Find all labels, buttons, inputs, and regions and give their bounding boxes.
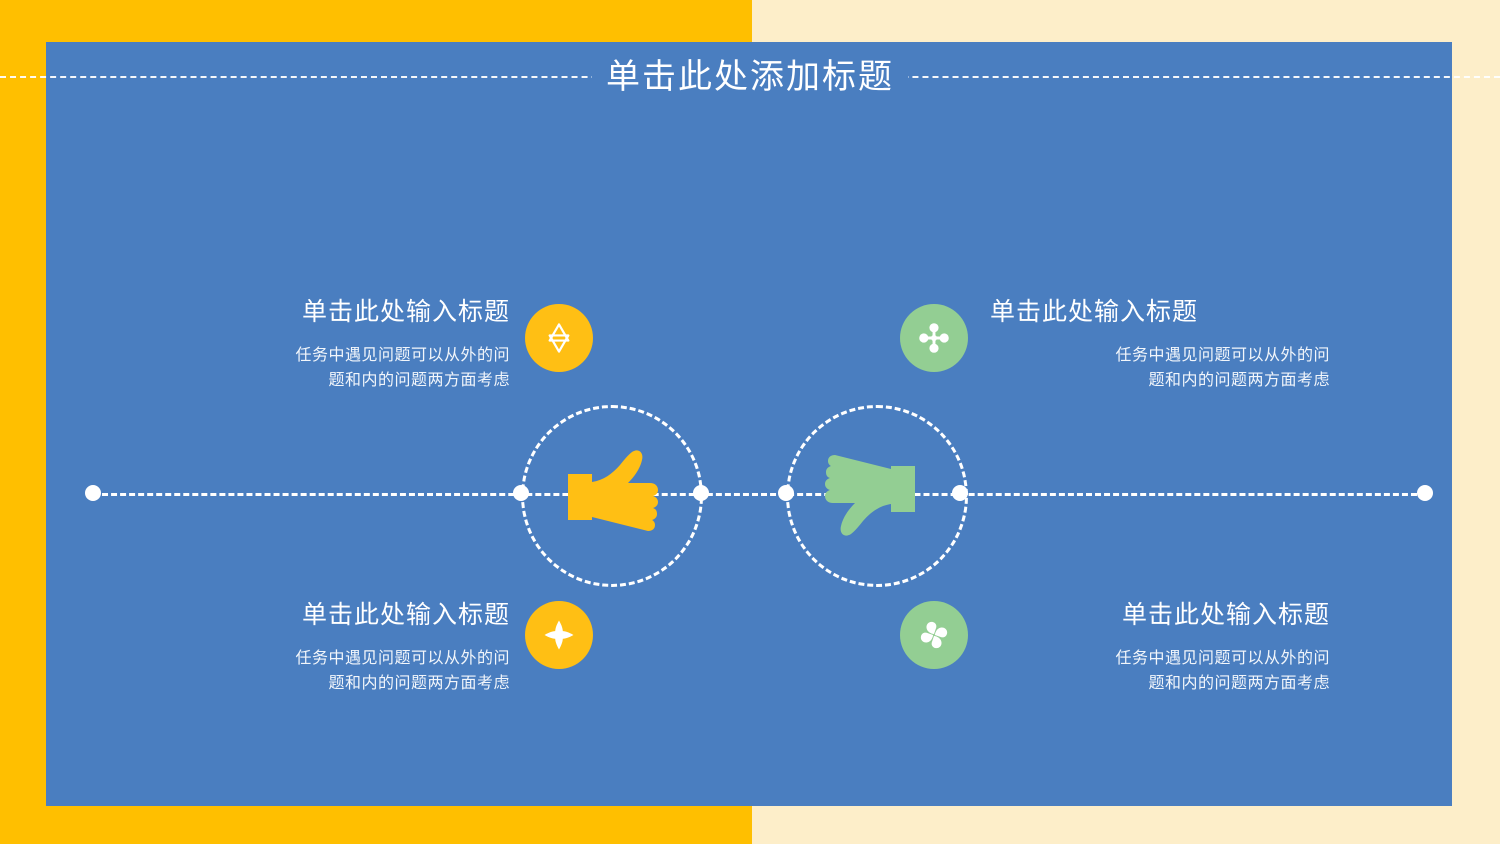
badge-top-left[interactable] <box>525 304 593 372</box>
badge-bottom-left[interactable] <box>525 601 593 669</box>
item-top-left-body-line1: 任务中遇见问题可以从外的问 <box>170 343 510 368</box>
item-bottom-left-body-line1: 任务中遇见问题可以从外的问 <box>170 646 510 671</box>
item-top-right-body: 任务中遇见问题可以从外的问 题和内的问题两方面考虑 <box>990 343 1330 393</box>
item-top-right-body-line1: 任务中遇见问题可以从外的问 <box>990 343 1330 368</box>
page-title-text: 单击此处添加标题 <box>592 55 908 99</box>
four-leaf-clover-icon <box>917 618 951 652</box>
item-top-right-body-line2: 题和内的问题两方面考虑 <box>990 368 1330 393</box>
item-bottom-left-body-line2: 题和内的问题两方面考虑 <box>170 671 510 696</box>
slide-canvas: 单击此处添加标题 <box>0 0 1500 844</box>
star-of-david-icon <box>542 321 576 355</box>
axis-node-far-right <box>1417 485 1433 501</box>
item-bottom-left: 单击此处输入标题 任务中遇见问题可以从外的问 题和内的问题两方面考虑 <box>170 598 510 696</box>
item-top-left-heading: 单击此处输入标题 <box>170 295 510 329</box>
item-bottom-right-body-line1: 任务中遇见问题可以从外的问 <box>990 646 1330 671</box>
item-bottom-right: 单击此处输入标题 任务中遇见问题可以从外的问 题和内的问题两方面考虑 <box>990 598 1330 696</box>
item-bottom-right-heading: 单击此处输入标题 <box>990 598 1330 632</box>
item-bottom-left-heading: 单击此处输入标题 <box>170 598 510 632</box>
axis-node-far-left <box>85 485 101 501</box>
molecule-node-icon <box>917 321 951 355</box>
thumbs-up-icon[interactable] <box>521 405 697 581</box>
item-bottom-left-body: 任务中遇见问题可以从外的问 题和内的问题两方面考虑 <box>170 646 510 696</box>
item-bottom-right-body: 任务中遇见问题可以从外的问 题和内的问题两方面考虑 <box>990 646 1330 696</box>
item-top-right: 单击此处输入标题 任务中遇见问题可以从外的问 题和内的问题两方面考虑 <box>990 295 1330 393</box>
badge-top-right[interactable] <box>900 304 968 372</box>
page-title: 单击此处添加标题 <box>0 55 1500 99</box>
item-bottom-right-body-line2: 题和内的问题两方面考虑 <box>990 671 1330 696</box>
four-petal-flower-icon <box>542 618 576 652</box>
item-top-left-body-line2: 题和内的问题两方面考虑 <box>170 368 510 393</box>
item-top-left: 单击此处输入标题 任务中遇见问题可以从外的问 题和内的问题两方面考虑 <box>170 295 510 393</box>
item-top-right-heading: 单击此处输入标题 <box>990 295 1330 329</box>
thumbs-down-icon[interactable] <box>786 405 962 581</box>
timeline-axis <box>93 493 1426 496</box>
item-top-left-body: 任务中遇见问题可以从外的问 题和内的问题两方面考虑 <box>170 343 510 393</box>
badge-bottom-right[interactable] <box>900 601 968 669</box>
